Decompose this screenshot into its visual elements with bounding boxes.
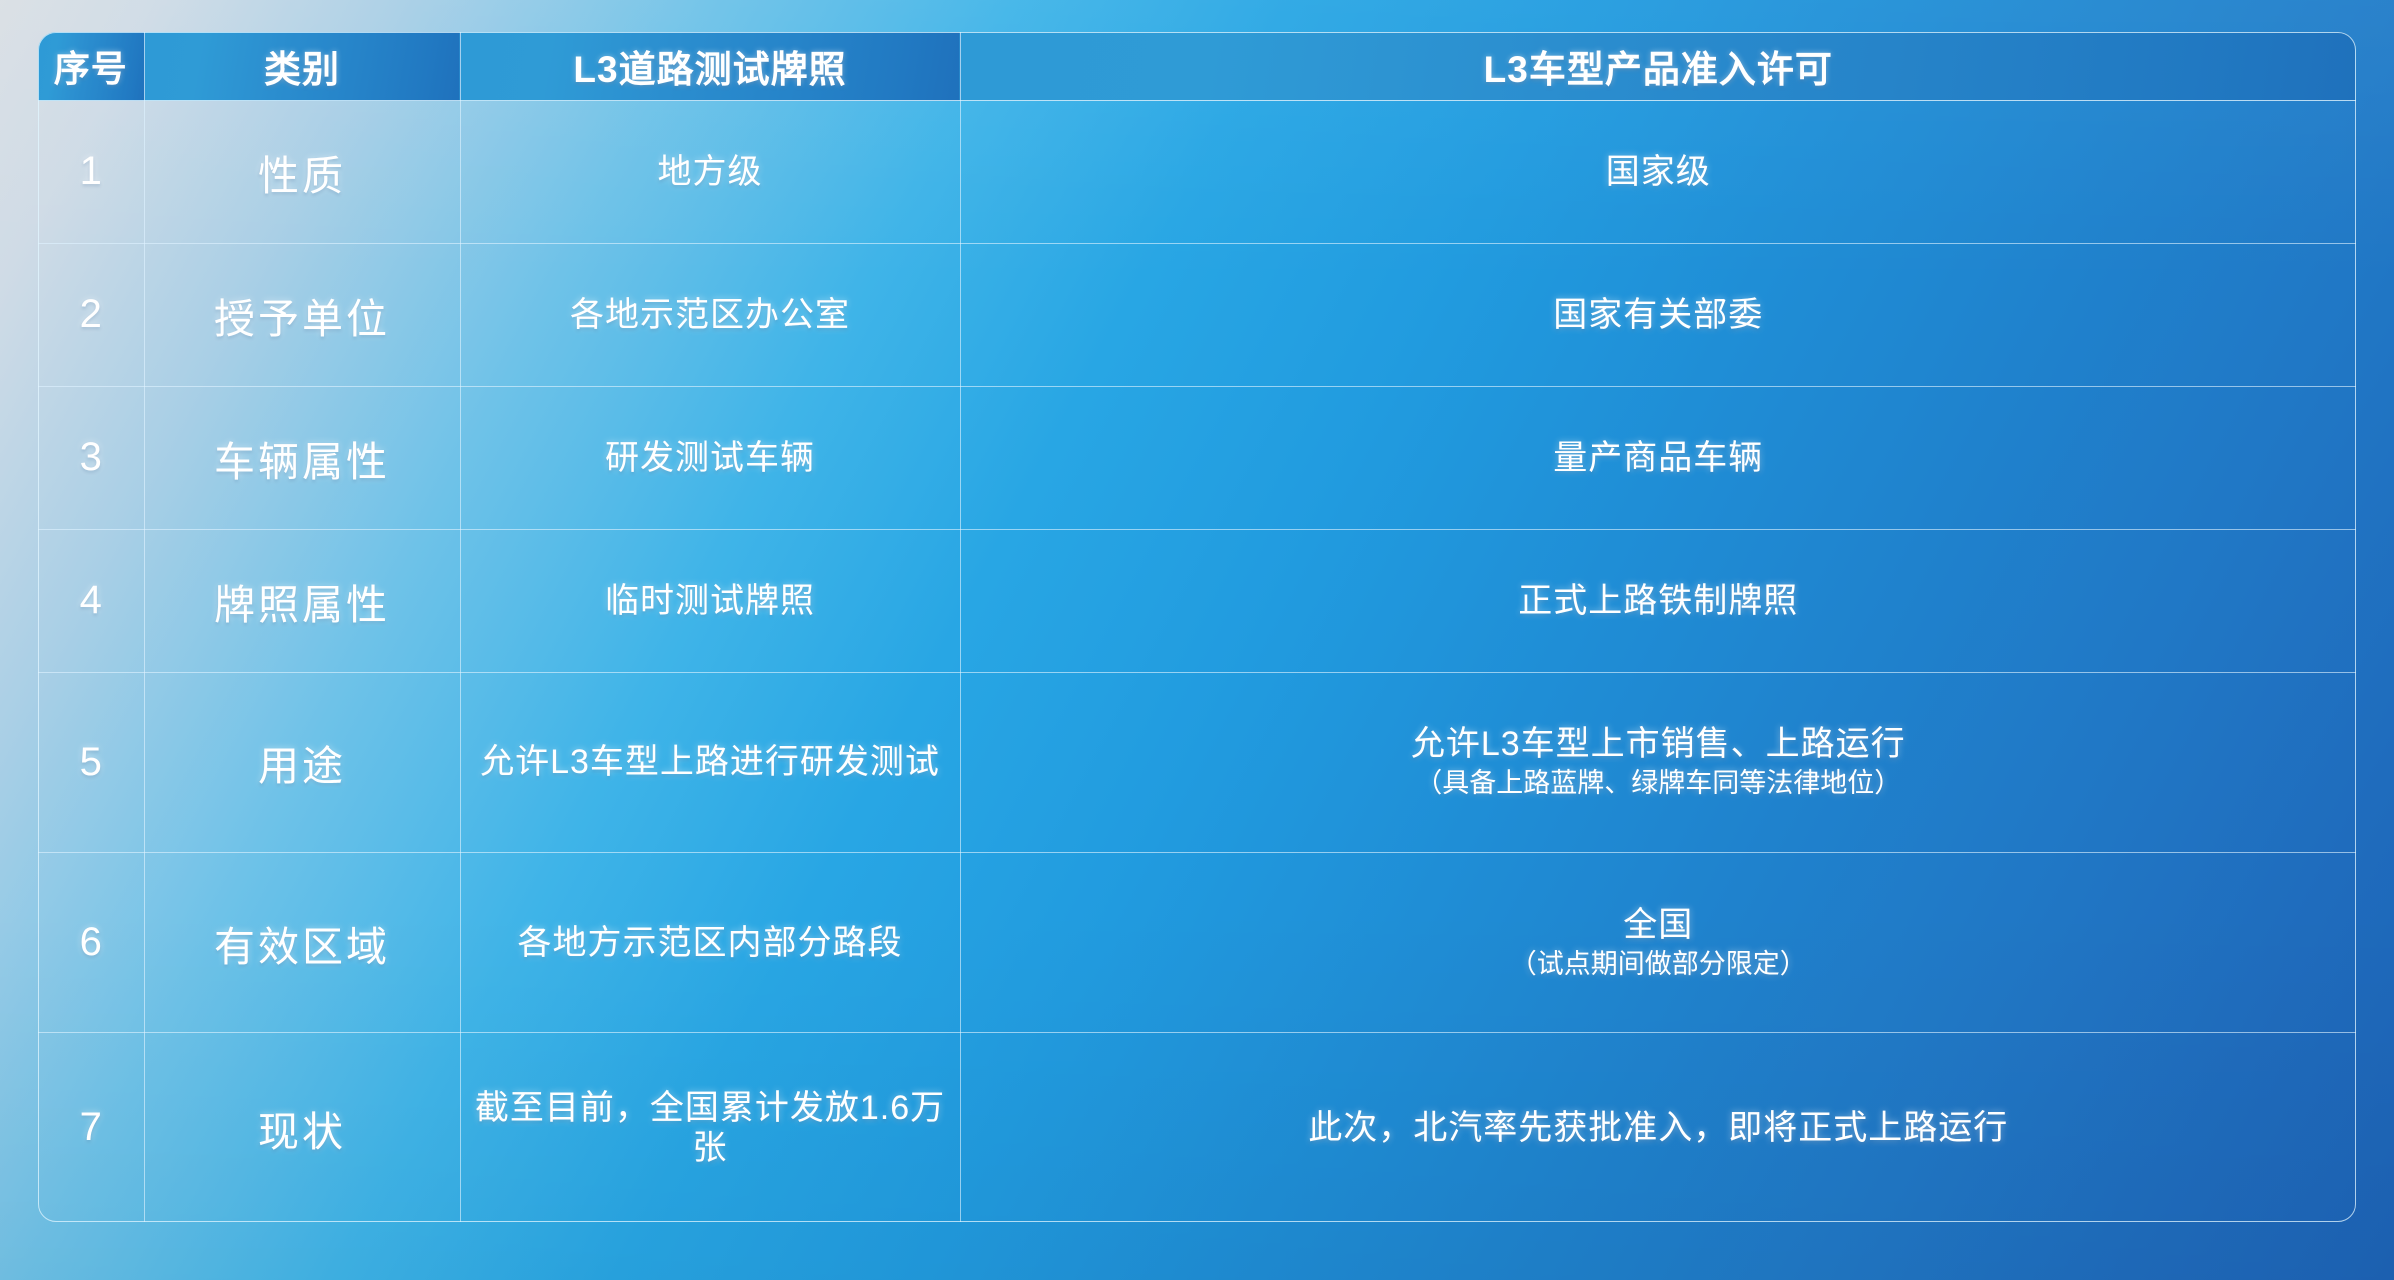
- column-header-test-license: L3道路测试牌照: [460, 32, 960, 101]
- row-test-license: 地方级: [460, 101, 960, 244]
- column-header-product-permit: L3车型产品准入许可: [960, 32, 2356, 101]
- table-row: 1 性质 地方级 国家级: [38, 101, 2356, 244]
- row-product-permit-main: 量产商品车辆: [971, 438, 2347, 478]
- row-category: 牌照属性: [144, 529, 460, 672]
- row-product-permit-main: 正式上路铁制牌照: [971, 581, 2347, 621]
- row-test-license: 各地示范区办公室: [460, 243, 960, 386]
- comparison-table: 序号 类别 L3道路测试牌照 L3车型产品准入许可 1 性质 地方级 国家级 2: [38, 32, 2356, 1222]
- table-row: 4 牌照属性 临时测试牌照 正式上路铁制牌照: [38, 529, 2356, 672]
- row-product-permit-main: 允许L3车型上市销售、上路运行: [971, 724, 2347, 764]
- row-product-permit: 允许L3车型上市销售、上路运行 （具备上路蓝牌、绿牌车同等法律地位）: [960, 672, 2356, 852]
- row-category: 性质: [144, 101, 460, 244]
- row-category: 车辆属性: [144, 386, 460, 529]
- table-row: 5 用途 允许L3车型上路进行研发测试 允许L3车型上市销售、上路运行 （具备上…: [38, 672, 2356, 852]
- column-header-index: 序号: [38, 32, 144, 101]
- table-row: 3 车辆属性 研发测试车辆 量产商品车辆: [38, 386, 2356, 529]
- row-product-permit: 正式上路铁制牌照: [960, 529, 2356, 672]
- row-index: 5: [38, 672, 144, 852]
- comparison-table-infographic: 序号 类别 L3道路测试牌照 L3车型产品准入许可 1 性质 地方级 国家级 2: [0, 0, 2394, 1280]
- row-index: 1: [38, 101, 144, 244]
- table-row: 6 有效区域 各地方示范区内部分路段 全国 （试点期间做部分限定）: [38, 853, 2356, 1033]
- table-row: 7 现状 截至目前，全国累计发放1.6万张 此次，北汽率先获批准入，即将正式上路…: [38, 1033, 2356, 1222]
- row-product-permit-main: 此次，北汽率先获批准入，即将正式上路运行: [971, 1108, 2347, 1148]
- row-test-license: 临时测试牌照: [460, 529, 960, 672]
- row-category: 授予单位: [144, 243, 460, 386]
- column-header-category: 类别: [144, 32, 460, 101]
- row-product-permit-main: 国家有关部委: [971, 295, 2347, 335]
- table-row: 2 授予单位 各地示范区办公室 国家有关部委: [38, 243, 2356, 386]
- table-header: 序号 类别 L3道路测试牌照 L3车型产品准入许可: [38, 32, 2356, 101]
- row-product-permit: 此次，北汽率先获批准入，即将正式上路运行: [960, 1033, 2356, 1222]
- row-product-permit: 国家级: [960, 101, 2356, 244]
- row-index: 7: [38, 1033, 144, 1222]
- row-test-license: 截至目前，全国累计发放1.6万张: [460, 1033, 960, 1222]
- row-product-permit: 国家有关部委: [960, 243, 2356, 386]
- row-test-license: 允许L3车型上路进行研发测试: [460, 672, 960, 852]
- row-category: 现状: [144, 1033, 460, 1222]
- row-product-permit-note: （试点期间做部分限定）: [971, 949, 2347, 981]
- row-product-permit: 量产商品车辆: [960, 386, 2356, 529]
- row-index: 2: [38, 243, 144, 386]
- table-body: 1 性质 地方级 国家级 2 授予单位 各地示范区办公室 国家有关部委: [38, 101, 2356, 1223]
- row-test-license: 研发测试车辆: [460, 386, 960, 529]
- table-header-row: 序号 类别 L3道路测试牌照 L3车型产品准入许可: [38, 32, 2356, 101]
- row-index: 3: [38, 386, 144, 529]
- row-product-permit-main: 国家级: [971, 152, 2347, 192]
- row-product-permit-note: （具备上路蓝牌、绿牌车同等法律地位）: [971, 768, 2347, 800]
- row-category: 用途: [144, 672, 460, 852]
- row-category: 有效区域: [144, 853, 460, 1033]
- row-product-permit-main: 全国: [971, 905, 2347, 945]
- row-product-permit: 全国 （试点期间做部分限定）: [960, 853, 2356, 1033]
- row-index: 6: [38, 853, 144, 1033]
- row-test-license: 各地方示范区内部分路段: [460, 853, 960, 1033]
- comparison-table-container: 序号 类别 L3道路测试牌照 L3车型产品准入许可 1 性质 地方级 国家级 2: [38, 32, 2356, 1222]
- row-index: 4: [38, 529, 144, 672]
